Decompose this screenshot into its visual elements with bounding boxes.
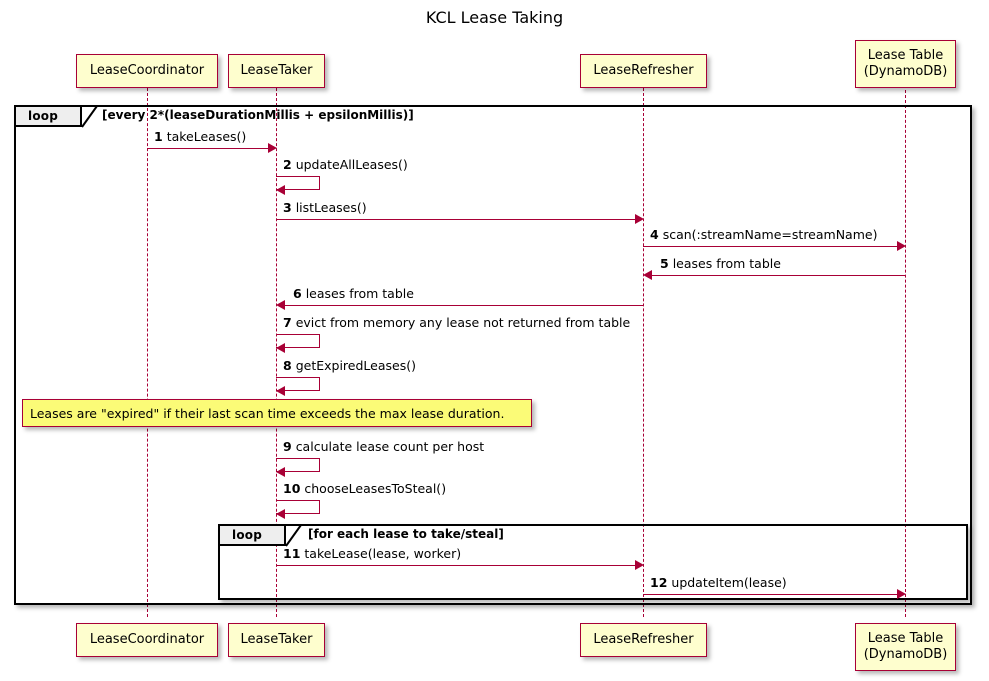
message-8-seq: 8 (283, 358, 292, 373)
message-7-text: evict from memory any lease not returned… (296, 315, 631, 330)
frame-inner-loop-tab-corner-line (285, 525, 302, 547)
message-9-seq: 9 (283, 439, 292, 454)
message-9-label: 9 calculate lease count per host (283, 440, 484, 454)
message-1-seq: 1 (154, 129, 163, 144)
message-5-label: 5 leases from table (660, 257, 781, 271)
message-6-line (285, 305, 643, 306)
participant-label: LeaseTaker (241, 63, 313, 79)
message-3-label: 3 listLeases() (283, 201, 367, 215)
participant-leaserefresher-bottom[interactable]: LeaseRefresher (580, 623, 707, 657)
participant-label: LeaseCoordinator (90, 63, 204, 79)
message-12-seq: 12 (650, 575, 667, 590)
message-7-label: 7 evict from memory any lease not return… (283, 316, 630, 330)
participant-leasetaker-bottom[interactable]: LeaseTaker (228, 623, 325, 657)
message-4-text: scan(:streamName=streamName) (663, 227, 878, 242)
frame-keyword: loop (232, 528, 262, 542)
participant-sublabel: (DynamoDB) (864, 647, 948, 663)
participant-label: LeaseTaker (241, 632, 313, 648)
message-3-seq: 3 (283, 200, 292, 215)
message-8-label: 8 getExpiredLeases() (283, 359, 416, 373)
participant-leasecoordinator-top[interactable]: LeaseCoordinator (76, 54, 218, 88)
message-5-line (652, 275, 905, 276)
message-9-arrowhead (276, 467, 285, 477)
participant-label: Lease Table (868, 48, 944, 64)
message-12-line (643, 594, 898, 595)
frame-outer-loop-guard: [every 2*(leaseDurationMillis + epsilonM… (102, 108, 414, 122)
message-2-arrowhead (276, 185, 285, 195)
message-1-text: takeLeases() (167, 129, 247, 144)
sequence-diagram-canvas: KCL Lease Taking LeaseCoordinator LeaseT… (0, 0, 989, 681)
participant-leasetable-bottom[interactable]: Lease Table (DynamoDB) (855, 623, 956, 671)
participant-label: LeaseCoordinator (90, 632, 204, 648)
message-12-text: updateItem(lease) (671, 575, 786, 590)
participant-leasetable-top[interactable]: Lease Table (DynamoDB) (855, 40, 956, 88)
message-2-label: 2 updateAllLeases() (283, 158, 408, 172)
message-4-arrowhead (897, 241, 906, 251)
message-6-label: 6 leases from table (293, 287, 414, 301)
message-5-seq: 5 (660, 256, 669, 271)
participant-label: LeaseRefresher (593, 632, 693, 648)
frame-outer-loop-tab-corner-line (81, 106, 98, 128)
message-11-label: 11 takeLease(lease, worker) (283, 547, 461, 561)
message-4-seq: 4 (650, 227, 659, 242)
diagram-title: KCL Lease Taking (0, 8, 989, 27)
message-10-arrowhead (276, 509, 285, 519)
note-expired-leases: Leases are "expired" if their last scan … (22, 399, 532, 427)
participant-leaserefresher-top[interactable]: LeaseRefresher (580, 54, 707, 88)
frame-keyword: loop (28, 109, 58, 123)
message-8-arrowhead (276, 386, 285, 396)
message-2-seq: 2 (283, 157, 292, 172)
message-5-text: leases from table (673, 256, 781, 271)
message-11-line (276, 565, 636, 566)
message-11-seq: 11 (283, 546, 300, 561)
message-6-seq: 6 (293, 286, 302, 301)
message-9-text: calculate lease count per host (296, 439, 484, 454)
participant-sublabel: (DynamoDB) (864, 64, 948, 80)
message-3-arrowhead (635, 214, 644, 224)
message-3-line (276, 219, 636, 220)
message-11-arrowhead (635, 560, 644, 570)
participant-label: LeaseRefresher (593, 63, 693, 79)
message-10-label: 10 chooseLeasesToSteal() (283, 482, 446, 496)
message-7-seq: 7 (283, 315, 292, 330)
message-1-line (147, 148, 269, 149)
message-4-label: 4 scan(:streamName=streamName) (650, 228, 877, 242)
message-1-label: 1 takeLeases() (154, 130, 246, 144)
message-6-arrowhead (276, 300, 285, 310)
message-7-arrowhead (276, 343, 285, 353)
participant-label: Lease Table (868, 631, 944, 647)
frame-outer-loop-tab: loop (16, 107, 82, 127)
note-fold (520, 400, 531, 411)
message-5-arrowhead (643, 270, 652, 280)
frame-inner-loop-tab: loop (220, 526, 286, 546)
message-12-arrowhead (897, 589, 906, 599)
message-1-arrowhead (268, 143, 277, 153)
message-10-seq: 10 (283, 481, 300, 496)
message-2-text: updateAllLeases() (296, 157, 408, 172)
participant-leasetaker-top[interactable]: LeaseTaker (228, 54, 325, 88)
message-12-label: 12 updateItem(lease) (650, 576, 787, 590)
participant-leasecoordinator-bottom[interactable]: LeaseCoordinator (76, 623, 218, 657)
message-11-text: takeLease(lease, worker) (304, 546, 461, 561)
message-3-text: listLeases() (296, 200, 367, 215)
message-4-line (643, 246, 898, 247)
message-6-text: leases from table (306, 286, 414, 301)
message-10-text: chooseLeasesToSteal() (304, 481, 446, 496)
note-text: Leases are "expired" if their last scan … (30, 406, 504, 421)
frame-inner-loop-guard: [for each lease to take/steal] (308, 527, 504, 541)
message-8-text: getExpiredLeases() (296, 358, 416, 373)
